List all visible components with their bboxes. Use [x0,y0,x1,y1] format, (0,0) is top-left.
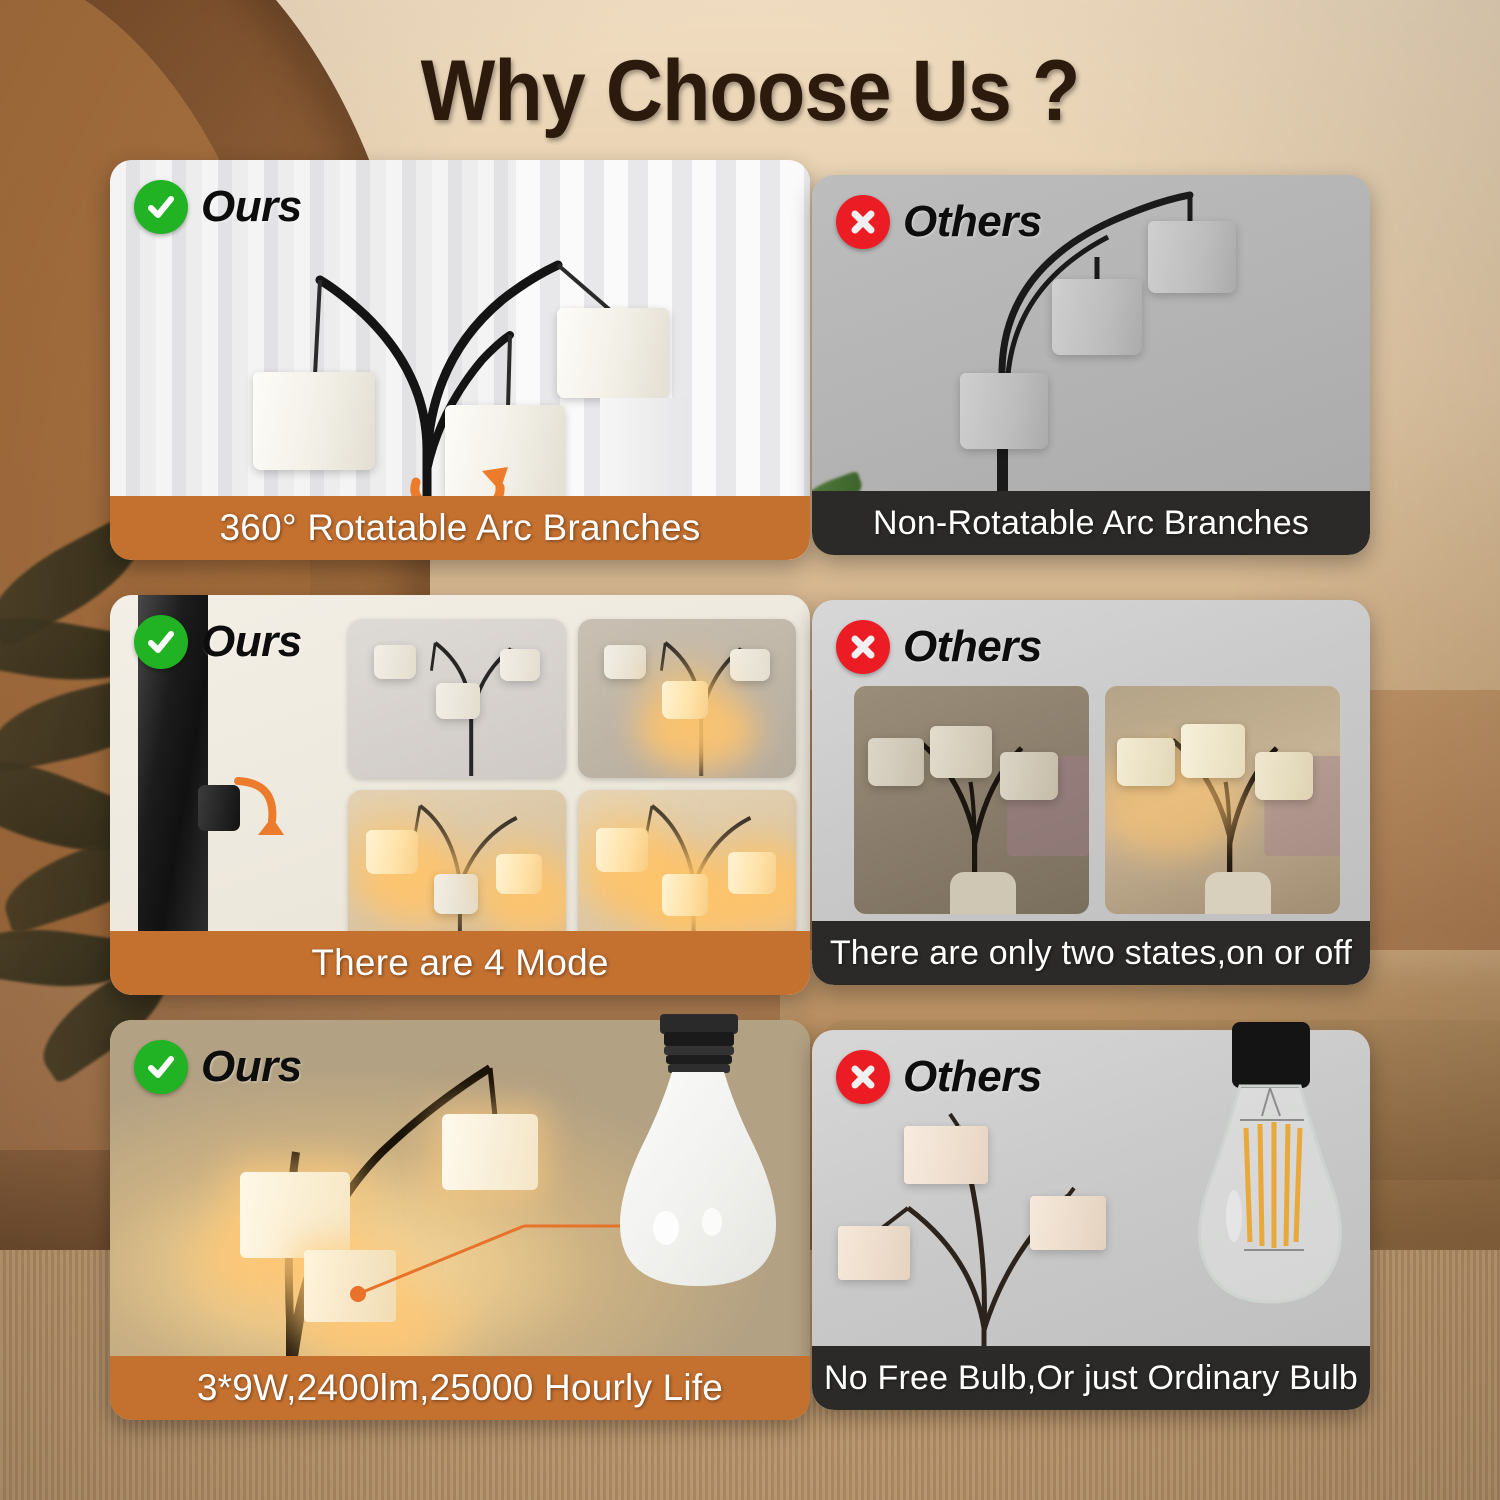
caption-text: There are 4 Mode [311,942,608,984]
caption-text: 3*9W,2400lm,25000 Hourly Life [197,1367,723,1409]
caption-ours-rotation: 360° Rotatable Arc Branches [110,496,810,560]
caption-ours-modes: There are 4 Mode [110,931,810,995]
x-circle-icon [836,1050,890,1104]
badge-ours-bulb: Ours [134,1040,302,1094]
caption-others-modes: There are only two states,on or off [812,921,1370,985]
caption-text: There are only two states,on or off [830,934,1352,973]
state-thumbnail-on [1105,686,1340,914]
label-others: Others [903,1052,1042,1102]
label-others: Others [903,622,1042,672]
card-ours-modes[interactable]: There are 4 Mode Ours [110,595,810,995]
caption-others-bulb: No Free Bulb,Or just Ordinary Bulb [812,1346,1370,1410]
badge-others-modes: Others [836,620,1042,674]
badge-ours-modes: Ours [134,615,302,669]
card-ours-bulb[interactable]: 3*9W,2400lm,25000 Hourly Life [110,1020,810,1420]
caption-text: Non-Rotatable Arc Branches [873,504,1309,543]
led-bulb-icon [588,1010,808,1330]
card-others-modes[interactable]: There are only two states,on or off Othe… [812,600,1370,985]
dimmer-rotation-arrow-icon [228,767,288,857]
mode-tile-all-on [578,790,796,949]
mode-tile-one-on [578,619,796,778]
card-others-rotation[interactable]: Non-Rotatable Arc Branches Others [812,175,1370,555]
badge-others-bulb: Others [836,1050,1042,1104]
caption-text: No Free Bulb,Or just Ordinary Bulb [824,1359,1358,1398]
mode-thumbnails [348,619,796,949]
caption-others-rotation: Non-Rotatable Arc Branches [812,491,1370,555]
check-circle-icon [134,1040,188,1094]
label-ours: Ours [201,1042,302,1092]
state-thumbnails [854,686,1340,914]
badge-ours-rotation: Ours [134,180,302,234]
card-ours-rotation[interactable]: 360° Rotatable Arc Branches Ours [110,160,810,560]
caption-text: 360° Rotatable Arc Branches [220,507,701,549]
comparison-grid: 360° Rotatable Arc Branches Ours [0,0,1500,1500]
badge-others-rotation: Others [836,195,1042,249]
caption-ours-bulb: 3*9W,2400lm,25000 Hourly Life [110,1356,810,1420]
x-circle-icon [836,195,890,249]
mode-tile-off [348,619,566,778]
label-ours: Ours [201,617,302,667]
x-circle-icon [836,620,890,674]
card-others-bulb[interactable]: No Free Bulb,Or just Ordinary Bulb [812,1030,1370,1410]
state-thumbnail-off [854,686,1089,914]
label-ours: Ours [201,182,302,232]
check-circle-icon [134,180,188,234]
filament-bulb-icon [1164,1016,1374,1336]
label-others: Others [903,197,1042,247]
check-circle-icon [134,615,188,669]
mode-tile-two-on [348,790,566,949]
